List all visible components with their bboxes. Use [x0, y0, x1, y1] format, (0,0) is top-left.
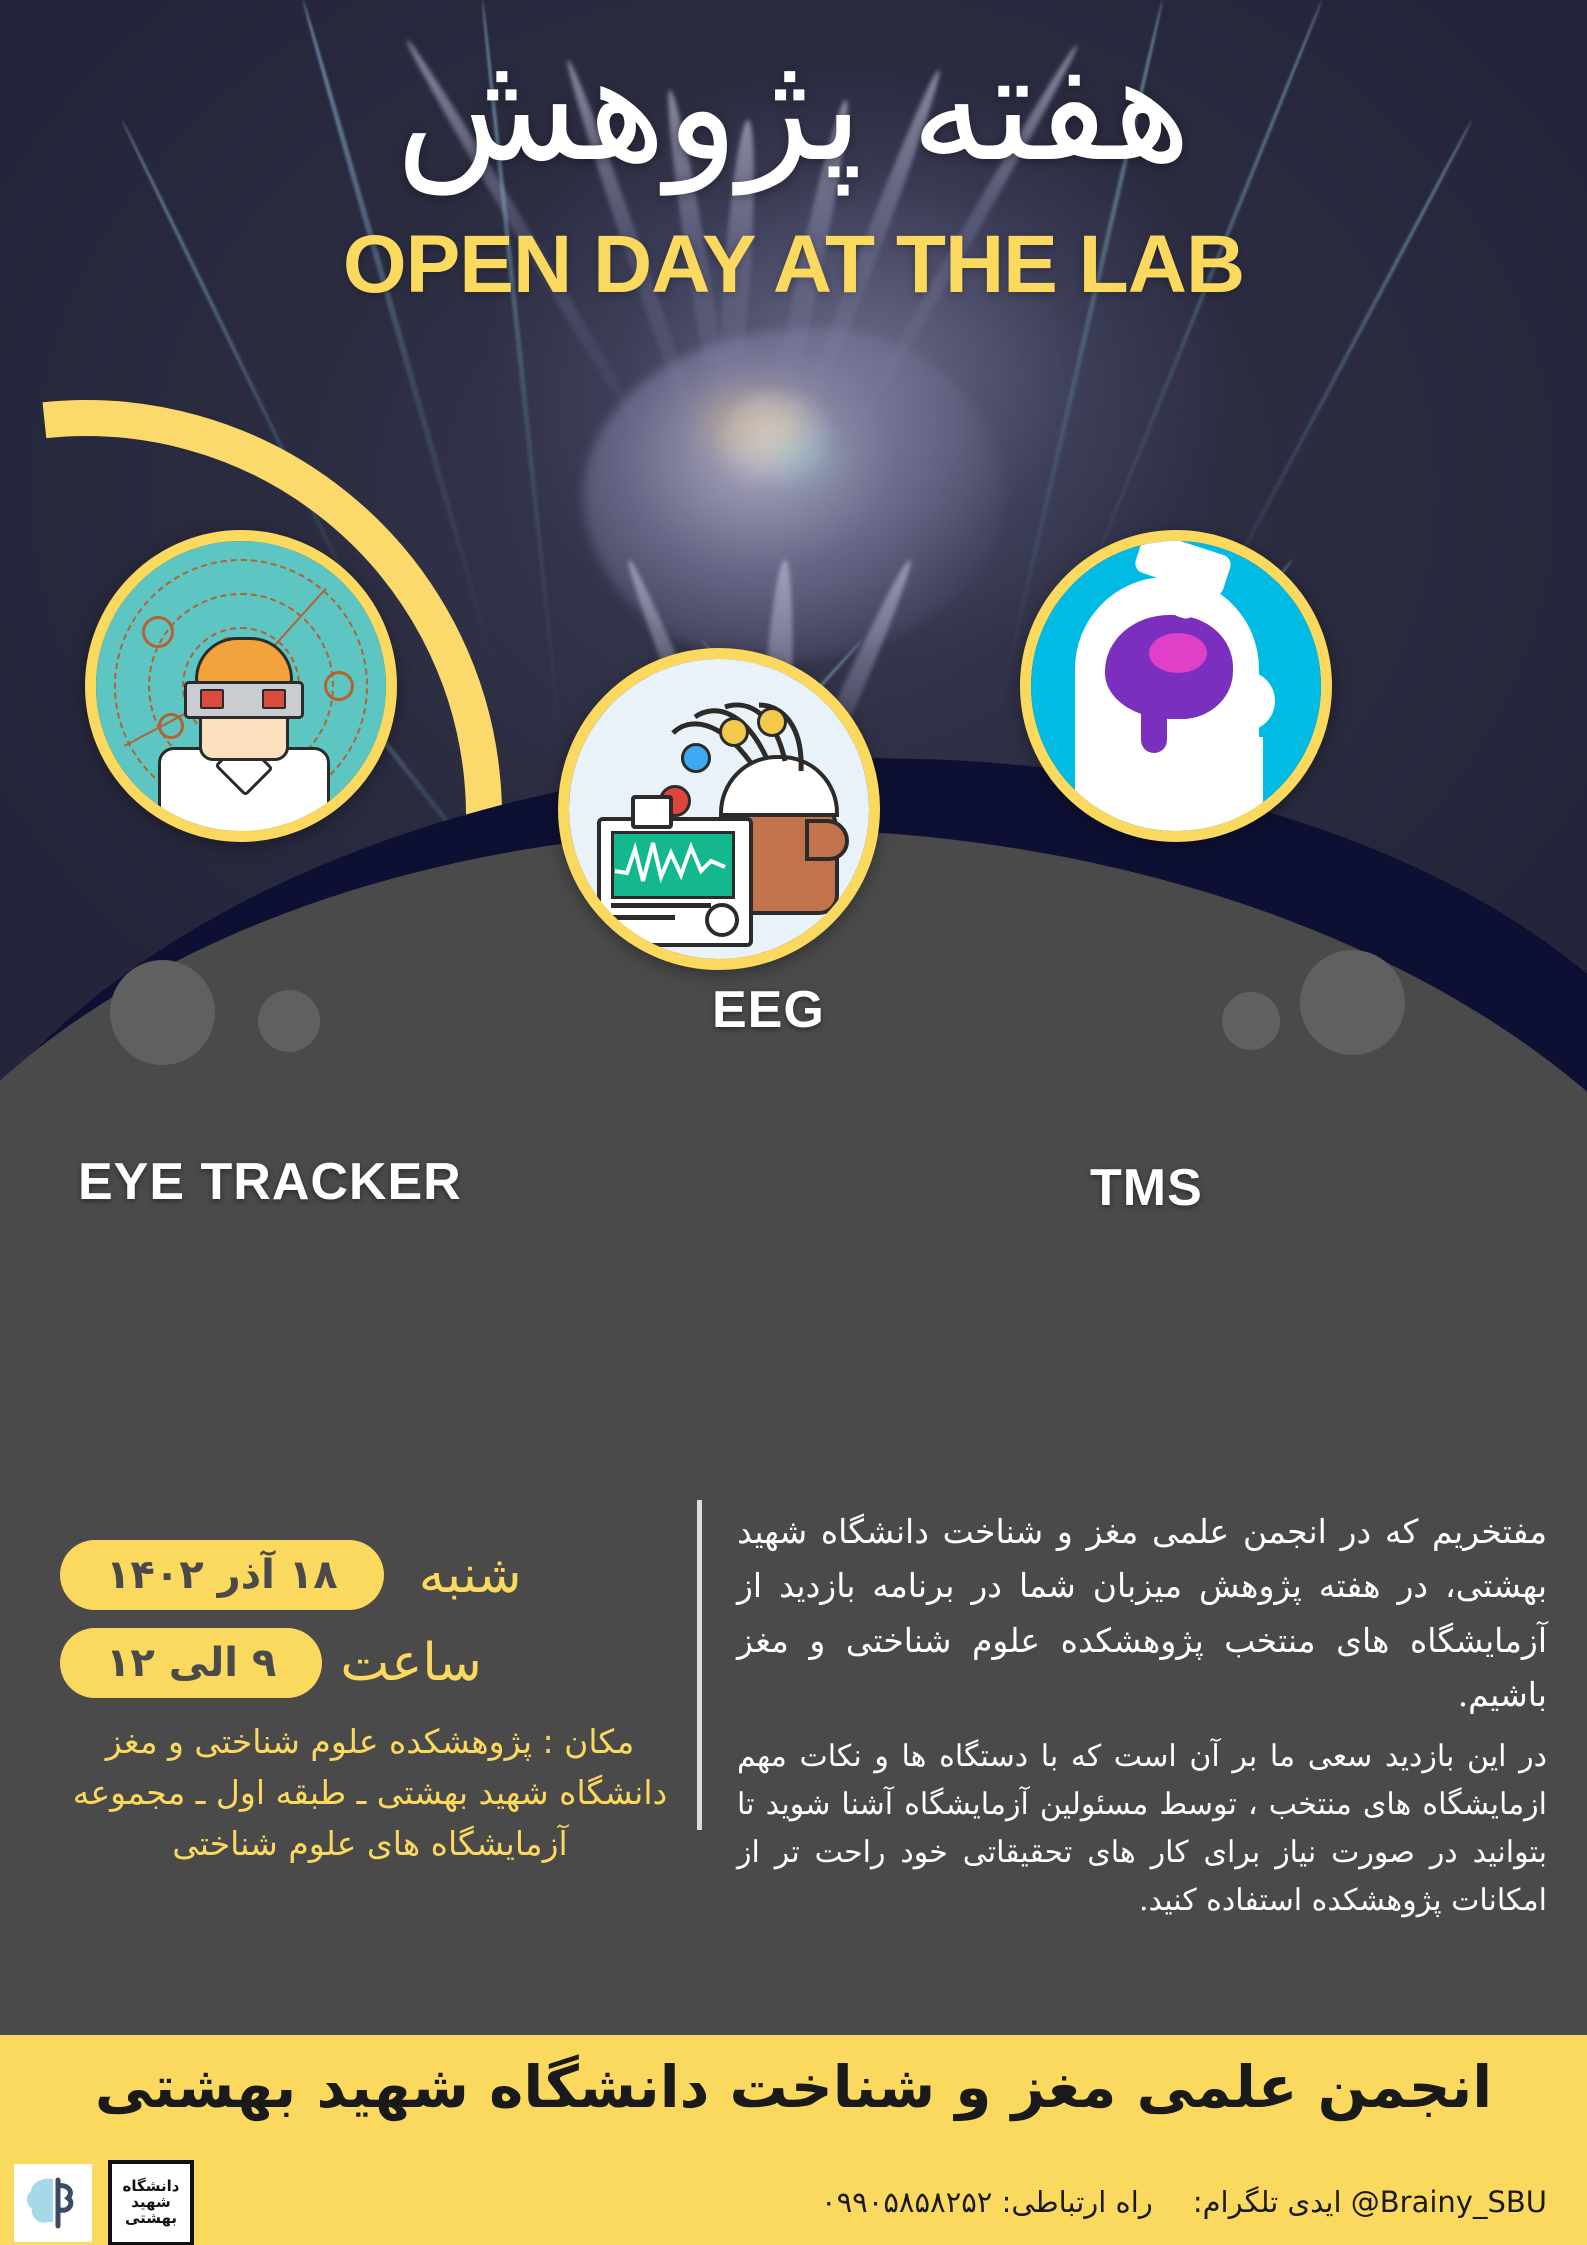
page-title-en: OPEN DAY AT THE LAB: [0, 218, 1587, 312]
eeg-electrode: [681, 743, 711, 773]
decorative-dot: [1222, 992, 1280, 1050]
eeg-monitor-line: [611, 903, 711, 908]
contact-label: راه ارتباطی:: [1002, 2185, 1153, 2219]
telegram-group: @Brainy_SBU ایدی تلگرام:: [1193, 2185, 1547, 2219]
schedule-row-day: شنبه ۱۸ آذر ۱۴۰۲: [60, 1540, 680, 1610]
visor-led-right: [262, 689, 286, 709]
eeg-electrode: [757, 707, 787, 737]
contact-phone: ۰۹۹۰۵۸۵۸۲۵۲: [821, 2185, 992, 2219]
visor-led-left: [200, 689, 224, 709]
eeg-waveform: [611, 831, 729, 893]
day-value-pill: ۱۸ آذر ۱۴۰۲: [60, 1540, 384, 1610]
eeg-monitor-stand: [631, 795, 673, 829]
phone-group: راه ارتباطی: ۰۹۹۰۵۸۵۸۲۵۲: [821, 2185, 1153, 2219]
time-value-pill: ۹ الی ۱۲: [60, 1628, 322, 1698]
time-label: ساعت: [340, 1633, 482, 1693]
decorative-dot: [258, 990, 320, 1052]
schedule-block: شنبه ۱۸ آذر ۱۴۰۲ ساعت ۹ الی ۱۲ مکان : پژ…: [60, 1540, 680, 1869]
description-paragraph-1: مفتخریم که در انجمن علمی مغز و شناخت دان…: [737, 1505, 1547, 1723]
info-divider: [697, 1500, 702, 1830]
description-paragraph-2: در این بازدید سعی ما بر آن است که با دست…: [737, 1733, 1547, 1925]
day-label: شنبه: [402, 1545, 522, 1605]
tms-circle[interactable]: [1020, 530, 1332, 842]
page-title-fa: هفته پژوهش: [0, 22, 1587, 195]
telegram-handle[interactable]: @Brainy_SBU: [1351, 2185, 1547, 2219]
tracker-node: [142, 616, 174, 648]
brain-icon: [22, 2172, 84, 2234]
decorative-dot: [110, 960, 215, 1065]
eye-tracker-circle[interactable]: [85, 530, 397, 842]
organization-name: انجمن علمی مغز و شناخت دانشگاه شهید بهشت…: [0, 2053, 1587, 2121]
tms-label: TMS: [1090, 1158, 1203, 1218]
eeg-monitor-line: [611, 915, 675, 920]
tms-chin: [1181, 737, 1263, 831]
contact-info: @Brainy_SBU ایدی تلگرام: راه ارتباطی: ۰۹…: [821, 2185, 1547, 2219]
sbu-university-logo: دانشگاه شهید بهشتی: [108, 2160, 194, 2245]
poster-root: هفته پژوهش OPEN DAY AT THE LAB EYE TRACK…: [0, 0, 1587, 2245]
description-block: مفتخریم که در انجمن علمی مغز و شناخت دان…: [737, 1505, 1547, 1925]
tracker-node: [158, 713, 184, 739]
venue-text: مکان : پژوهشکده علوم شناختی و مغز دانشگا…: [60, 1716, 680, 1869]
decorative-dot: [1300, 950, 1405, 1055]
tracker-node: [324, 671, 354, 701]
tms-brain-highlight: [1149, 633, 1207, 673]
eye-tracker-label: EYE TRACKER: [78, 1152, 462, 1212]
eeg-monitor-knob: [705, 903, 739, 937]
sbu-logo-text: دانشگاه شهید بهشتی: [112, 2179, 190, 2226]
eeg-electrode: [719, 717, 749, 747]
schedule-row-time: ساعت ۹ الی ۱۲: [60, 1628, 680, 1698]
eeg-label: EEG: [712, 980, 825, 1040]
logo-group: دانشگاه شهید بهشتی: [14, 2160, 194, 2245]
tms-brain-stem: [1141, 707, 1167, 753]
eeg-circle[interactable]: [558, 648, 880, 970]
telegram-label: ایدی تلگرام:: [1193, 2185, 1342, 2219]
brain-association-logo: [14, 2164, 92, 2242]
